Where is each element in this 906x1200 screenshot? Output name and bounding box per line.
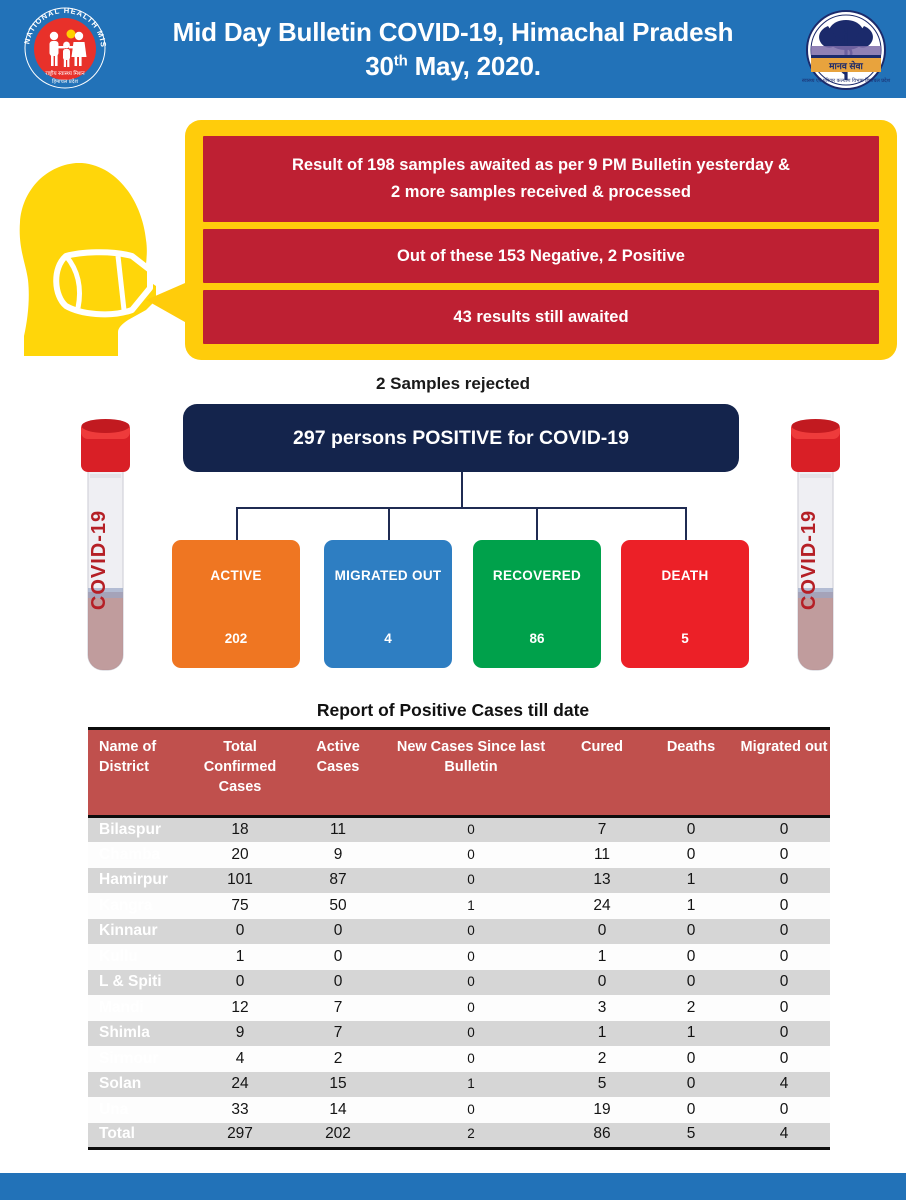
bubble-row-1-line-2: 2 more samples received & processed	[391, 183, 691, 201]
cell-deaths: 0	[644, 842, 738, 868]
status-cards-row: ACTIVE 202 MIGRATED OUT 4 RECOVERED 86 D…	[172, 540, 754, 668]
cell-active-cases: 0	[294, 944, 382, 970]
page-title: Mid Day Bulletin COVID-19, Himachal Prad…	[133, 15, 773, 84]
positive-cases-table: Name of District Total Confirmed Cases A…	[88, 727, 830, 1150]
table-row: Kangra755012410	[88, 893, 830, 919]
col-total-confirmed-cases: Total Confirmed Cases	[186, 729, 294, 817]
cell-new-cases: 0	[382, 970, 560, 996]
cell-cured: 0	[560, 970, 644, 996]
cell-migrated-out: 0	[738, 970, 830, 996]
col-new-cases-since-last-bulletin: New Cases Since last Bulletin	[382, 729, 560, 817]
col-deaths: Deaths	[644, 729, 738, 817]
cell-district-name: Chamba	[88, 842, 186, 868]
svg-text:मानव सेवा: मानव सेवा	[828, 60, 863, 71]
cell-cured: 11	[560, 842, 644, 868]
cell-district-name: Total	[88, 1123, 186, 1149]
status-card-active-value: 202	[172, 631, 300, 646]
svg-text:COVID-19: COVID-19	[88, 510, 110, 610]
cell-total-confirmed: 75	[186, 893, 294, 919]
cell-total-confirmed: 9	[186, 1021, 294, 1047]
bubble-row-negative-positive: Out of these 153 Negative, 2 Positive	[203, 229, 879, 283]
cell-deaths: 0	[644, 1072, 738, 1098]
cell-new-cases: 2	[382, 1123, 560, 1149]
cell-cured: 1	[560, 944, 644, 970]
cell-new-cases: 0	[382, 1097, 560, 1123]
cell-new-cases: 0	[382, 842, 560, 868]
bubble-row-1-text: Result of 198 samples awaited as per 9 P…	[292, 152, 790, 205]
covid-19-test-tube-right: COVID-19	[772, 412, 858, 678]
cell-total-confirmed: 101	[186, 868, 294, 894]
cell-total-confirmed: 4	[186, 1046, 294, 1072]
cell-active-cases: 202	[294, 1123, 382, 1149]
day-ordinal-suffix: th	[394, 52, 408, 69]
cell-deaths: 0	[644, 1046, 738, 1072]
cell-active-cases: 9	[294, 842, 382, 868]
status-card-death: DEATH 5	[621, 540, 749, 668]
cell-active-cases: 87	[294, 868, 382, 894]
cell-cured: 13	[560, 868, 644, 894]
cell-cured: 3	[560, 995, 644, 1021]
status-card-death-label: DEATH	[662, 568, 709, 585]
cell-district-name: Hamirpur	[88, 868, 186, 894]
cell-total-confirmed: 0	[186, 919, 294, 945]
svg-text:स्वास्थ्य एवं परिवार कल्याण वि: स्वास्थ्य एवं परिवार कल्याण विभाग हिमाचल…	[802, 77, 891, 84]
status-card-recovered-label: RECOVERED	[493, 568, 581, 585]
table-row: L & Spiti000000	[88, 970, 830, 996]
cell-new-cases: 0	[382, 868, 560, 894]
cell-migrated-out: 0	[738, 944, 830, 970]
cell-new-cases: 0	[382, 919, 560, 945]
cell-district-name: Kinnaur	[88, 919, 186, 945]
cell-new-cases: 0	[382, 817, 560, 843]
cell-cured: 1	[560, 1021, 644, 1047]
status-card-migrated-out-label: MIGRATED OUT	[335, 568, 442, 585]
table-row: Bilaspur18110700	[88, 817, 830, 843]
cell-new-cases: 0	[382, 1046, 560, 1072]
cell-cured: 24	[560, 893, 644, 919]
bulletin-day: 30	[365, 51, 394, 81]
cell-migrated-out: 0	[738, 995, 830, 1021]
table-body: Bilaspur18110700Chamba20901100Hamirpur10…	[88, 817, 830, 1149]
status-card-death-value: 5	[621, 631, 749, 646]
cell-cured: 0	[560, 919, 644, 945]
bubble-row-1-line-1: Result of 198 samples awaited as per 9 P…	[292, 156, 790, 174]
status-card-migrated-out: MIGRATED OUT 4	[324, 540, 452, 668]
manav-seva-emblem-logo: मानव सेवा स्वास्थ्य एवं परिवार कल्याण वि…	[798, 6, 894, 94]
cell-migrated-out: 0	[738, 893, 830, 919]
cell-total-confirmed: 12	[186, 995, 294, 1021]
cell-active-cases: 7	[294, 1021, 382, 1047]
cell-new-cases: 1	[382, 1072, 560, 1098]
status-card-recovered-value: 86	[473, 631, 601, 646]
table-row: Mandi1270320	[88, 995, 830, 1021]
cell-district-name: Una	[88, 1097, 186, 1123]
cell-deaths: 0	[644, 970, 738, 996]
table-header-row: Name of District Total Confirmed Cases A…	[88, 729, 830, 817]
status-card-active-label: ACTIVE	[210, 568, 261, 585]
page-header: NATIONAL HEALTH MISSION राष्ट्रीय स्वास्…	[0, 0, 906, 98]
cell-deaths: 0	[644, 919, 738, 945]
cell-district-name: Solan	[88, 1072, 186, 1098]
connector-branch-active	[236, 507, 238, 543]
cell-total-confirmed: 18	[186, 817, 294, 843]
table-row: Solan24151504	[88, 1072, 830, 1098]
cell-new-cases: 0	[382, 1021, 560, 1047]
samples-rejected-label: 2 Samples rejected	[0, 374, 906, 394]
cell-total-confirmed: 24	[186, 1072, 294, 1098]
total-positive-box: 297 persons POSITIVE for COVID-19	[183, 404, 739, 472]
table-row: Kullu100100	[88, 944, 830, 970]
status-card-recovered: RECOVERED 86	[473, 540, 601, 668]
cell-cured: 86	[560, 1123, 644, 1149]
cell-deaths: 0	[644, 817, 738, 843]
cell-active-cases: 50	[294, 893, 382, 919]
cell-migrated-out: 0	[738, 842, 830, 868]
cell-new-cases: 0	[382, 944, 560, 970]
cell-migrated-out: 0	[738, 868, 830, 894]
cell-deaths: 1	[644, 868, 738, 894]
cell-deaths: 0	[644, 944, 738, 970]
cell-new-cases: 1	[382, 893, 560, 919]
cell-active-cases: 7	[294, 995, 382, 1021]
col-migrated-out: Migrated out	[738, 729, 830, 817]
bulletin-page: NATIONAL HEALTH MISSION राष्ट्रीय स्वास्…	[0, 0, 906, 1200]
cell-district-name: Kangra	[88, 893, 186, 919]
connector-horizontal	[236, 507, 687, 509]
cell-migrated-out: 4	[738, 1123, 830, 1149]
cell-cured: 7	[560, 817, 644, 843]
cell-cured: 19	[560, 1097, 644, 1123]
col-name-of-district: Name of District	[88, 729, 186, 817]
cell-total-confirmed: 1	[186, 944, 294, 970]
speech-bubble-tail	[146, 280, 192, 326]
cell-district-name: Sirmour	[88, 1046, 186, 1072]
header-title-line1: Mid Day Bulletin COVID-19, Himachal Prad…	[173, 17, 734, 47]
header-title-line2: 30th May, 2020.	[133, 49, 773, 83]
cell-active-cases: 15	[294, 1072, 382, 1098]
col-active-cases: Active Cases	[294, 729, 382, 817]
cell-district-name: Kullu	[88, 944, 186, 970]
cell-active-cases: 11	[294, 817, 382, 843]
status-card-active: ACTIVE 202	[172, 540, 300, 668]
table-row: Shimla970110	[88, 1021, 830, 1047]
cell-active-cases: 0	[294, 970, 382, 996]
svg-text:हिमाचल प्रदेश: हिमाचल प्रदेश	[52, 78, 79, 85]
covid-19-test-tube-left: COVID-19	[62, 412, 148, 678]
cell-active-cases: 0	[294, 919, 382, 945]
footer-bar	[0, 1173, 906, 1200]
cell-migrated-out: 0	[738, 1021, 830, 1047]
bubble-row-results-awaited: 43 results still awaited	[203, 290, 879, 344]
cell-cured: 2	[560, 1046, 644, 1072]
cell-active-cases: 2	[294, 1046, 382, 1072]
cell-cured: 5	[560, 1072, 644, 1098]
table-title: Report of Positive Cases till date	[0, 700, 906, 721]
cell-district-name: L & Spiti	[88, 970, 186, 996]
table-row: Hamirpur1018701310	[88, 868, 830, 894]
connector-branch-migrated	[388, 507, 390, 543]
cell-total-confirmed: 297	[186, 1123, 294, 1149]
cell-deaths: 0	[644, 1097, 738, 1123]
national-health-mission-logo: NATIONAL HEALTH MISSION राष्ट्रीय स्वास्…	[16, 6, 114, 94]
status-card-migrated-out-value: 4	[324, 631, 452, 646]
cell-deaths: 1	[644, 1021, 738, 1047]
table-row: Kinnaur000000	[88, 919, 830, 945]
cell-district-name: Bilaspur	[88, 817, 186, 843]
cell-migrated-out: 0	[738, 1046, 830, 1072]
masked-head-icon	[14, 160, 194, 358]
bubble-row-samples-awaited: Result of 198 samples awaited as per 9 P…	[203, 136, 879, 222]
table-row: Chamba20901100	[88, 842, 830, 868]
cell-migrated-out: 0	[738, 919, 830, 945]
table-row: Una331401900	[88, 1097, 830, 1123]
cell-active-cases: 14	[294, 1097, 382, 1123]
cell-new-cases: 0	[382, 995, 560, 1021]
table-row-total: Total29720228654	[88, 1123, 830, 1149]
cell-deaths: 2	[644, 995, 738, 1021]
cell-district-name: Shimla	[88, 1021, 186, 1047]
bulletin-month-year: May, 2020.	[408, 51, 541, 81]
speech-bubble: Result of 198 samples awaited as per 9 P…	[185, 120, 897, 360]
col-cured: Cured	[560, 729, 644, 817]
cell-total-confirmed: 33	[186, 1097, 294, 1123]
connector-branch-death	[685, 507, 687, 543]
cell-deaths: 1	[644, 893, 738, 919]
connector-stem	[461, 472, 463, 508]
cell-migrated-out: 4	[738, 1072, 830, 1098]
total-positive-text: 297 persons POSITIVE for COVID-19	[293, 427, 629, 450]
cell-district-name: Mandi	[88, 995, 186, 1021]
cell-migrated-out: 0	[738, 817, 830, 843]
svg-text:COVID-19: COVID-19	[798, 510, 820, 610]
table-header: Name of District Total Confirmed Cases A…	[88, 729, 830, 817]
connector-branch-recovered	[536, 507, 538, 543]
cell-deaths: 5	[644, 1123, 738, 1149]
cell-total-confirmed: 20	[186, 842, 294, 868]
cell-migrated-out: 0	[738, 1097, 830, 1123]
svg-text:राष्ट्रीय स्वास्थ्य मिशन: राष्ट्रीय स्वास्थ्य मिशन	[45, 70, 85, 77]
table-row: Sirmour420200	[88, 1046, 830, 1072]
cell-total-confirmed: 0	[186, 970, 294, 996]
